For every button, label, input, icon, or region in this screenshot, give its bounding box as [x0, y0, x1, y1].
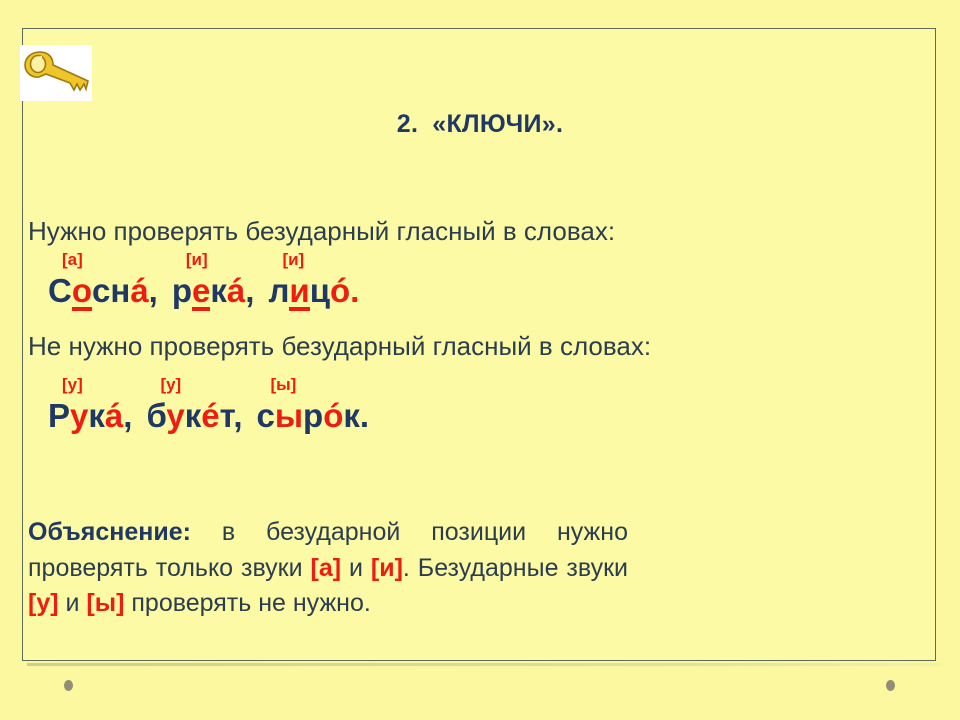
explanation-conj-2: и [59, 589, 87, 617]
word-letter: сн [92, 272, 130, 309]
transcription-mark: [и] [186, 250, 208, 270]
transcription-mark: [и] [282, 250, 304, 270]
word-letter: е [192, 274, 210, 311]
word-buket: букéт,[у] [146, 397, 242, 435]
word-lico: лицó.[и] [268, 272, 359, 311]
word-letter: р [172, 272, 192, 309]
word-letter: á [227, 272, 245, 309]
word-letter: , [245, 272, 254, 309]
word-letter: и [289, 274, 309, 311]
key-icon-svg [20, 45, 92, 101]
explanation-segment-2: . Безударные звуки [403, 554, 628, 582]
need-check-intro: Нужно проверять безударный гласный в сло… [28, 216, 615, 247]
transcription-mark: [у] [62, 375, 83, 395]
need-check-words: Соснá,[а]рекá,[и]лицó.[и] [48, 272, 359, 311]
sound-u: [у] [28, 589, 59, 617]
sound-y: [ы] [86, 589, 124, 617]
title-text: «КЛЮЧИ». [432, 110, 563, 138]
transcription-mark: [а] [62, 250, 83, 270]
word-letter: , [123, 397, 132, 434]
no-need-check-intro: Не нужно проверять безударный гласный в … [28, 331, 651, 362]
word-letter: л [268, 272, 289, 309]
transcription-mark: [у] [160, 375, 181, 395]
word-letter: , [149, 272, 158, 309]
word-letter: á [130, 272, 148, 309]
word-syrok: сырóк.[ы] [257, 397, 370, 435]
explanation-paragraph: Объяснение: в безударной позиции нужно п… [28, 515, 628, 622]
slide-canvas: 2.«КЛЮЧИ». Нужно проверять безударный гл… [0, 0, 960, 720]
word-letter: ó [323, 397, 343, 434]
page-title: 2.«КЛЮЧИ». [0, 110, 960, 139]
word-letter: у [166, 397, 184, 434]
explanation-label: Объяснение: [28, 518, 191, 546]
word-letter: с [257, 397, 275, 434]
word-letter: ó. [330, 272, 359, 309]
word-letter: ы [275, 397, 303, 434]
word-letter: о [72, 274, 92, 311]
word-letter: к [210, 272, 227, 309]
word-reka: рекá,[и] [172, 272, 255, 311]
explanation-conj-1: и [341, 554, 371, 582]
transcription-mark: [ы] [271, 375, 297, 395]
word-sosna: Соснá,[а] [48, 272, 158, 311]
word-letter: ц [310, 272, 330, 309]
word-letter: к [185, 397, 202, 434]
word-letter: р [303, 397, 323, 434]
word-letter: у [70, 397, 88, 434]
word-letter: á [105, 397, 123, 434]
bullet-dot-left [64, 680, 73, 691]
word-letter: Р [48, 397, 70, 434]
explanation-segment-3: проверять не нужно. [124, 589, 370, 617]
word-letter: б [146, 397, 166, 434]
word-ruka: Рукá,[у] [48, 397, 132, 435]
bullet-dot-right [886, 680, 895, 691]
sound-a: [а] [311, 554, 342, 582]
frame-shadow [27, 663, 941, 666]
word-letter: é [201, 397, 219, 434]
word-letter: к. [343, 397, 369, 434]
word-letter: С [48, 272, 72, 309]
key-icon [20, 45, 92, 101]
no-need-check-words: Рукá,[у]букéт,[у]сырóк.[ы] [48, 397, 369, 435]
title-number: 2. [397, 110, 418, 138]
sound-i: [и] [371, 554, 403, 582]
word-letter: т, [220, 397, 243, 434]
word-letter: к [88, 397, 105, 434]
